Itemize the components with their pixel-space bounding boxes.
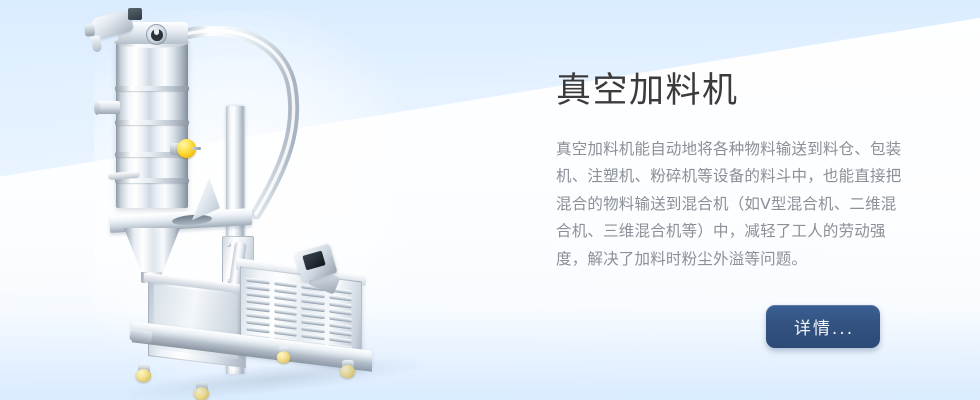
caster-wheel [340, 360, 357, 377]
louver-slot [329, 337, 353, 344]
valve-stem [192, 147, 201, 150]
louver-slot [246, 284, 270, 291]
louver-slot [274, 302, 298, 309]
louver-slot [246, 326, 270, 333]
page-title: 真空加料机 [556, 69, 739, 113]
louver-slot [329, 323, 353, 330]
louver-slot [329, 309, 353, 316]
caster-wheel-disc [340, 365, 355, 378]
louver-slot [274, 316, 298, 323]
product-image [84, 0, 504, 400]
brand-badge-glyph [151, 29, 163, 41]
louver-slot [329, 316, 353, 323]
hopper-band [115, 86, 189, 91]
louver-slot [246, 312, 270, 319]
louver-slot [246, 291, 270, 298]
louver-slot [301, 312, 325, 319]
louver-slot [246, 319, 270, 326]
louver-slot [246, 298, 270, 305]
louver-slot [301, 305, 325, 312]
louver-slot [274, 330, 298, 337]
product-banner: 真空加料机 真空加料机能自动地将各种物料输送到料仓、包装机、注塑机、粉碎机等设备… [0, 0, 980, 400]
discharge-cone [124, 228, 180, 274]
louver-slot [274, 323, 298, 330]
caster-wheel-disc [194, 387, 209, 400]
cap-junction-box [128, 8, 142, 20]
louver-slot [301, 298, 325, 305]
louver-slot [329, 330, 353, 337]
louver-slot [274, 309, 298, 316]
louver-slot [301, 326, 325, 333]
product-description: 真空加料机能自动地将各种物料输送到料仓、包装机、注塑机、粉碎机等设备的料斗中，也… [556, 136, 908, 274]
caster-wheel [136, 364, 153, 381]
louver-slot [329, 295, 353, 302]
details-button[interactable]: 详情... [766, 305, 880, 348]
louver-slot [246, 305, 270, 312]
louver-slot [301, 333, 325, 340]
caster-wheel-disc [277, 351, 291, 363]
banner-text-panel: 真空加料机 真空加料机能自动地将各种物料输送到料仓、包装机、注塑机、粉碎机等设备… [556, 0, 956, 400]
stainless-hopper-body [116, 42, 188, 208]
brand-badge-icon [146, 24, 167, 45]
machine-cart-base [114, 270, 444, 396]
caster-wheel-disc [136, 369, 151, 382]
hopper-band [115, 120, 189, 125]
side-inlet-nozzle [98, 101, 120, 114]
louver-slot [301, 319, 325, 326]
caster-wheel [277, 347, 293, 363]
louver-slot [301, 291, 325, 298]
caster-wheel [194, 382, 211, 399]
louver-slot [274, 288, 298, 295]
louver-slot [274, 295, 298, 302]
louver-slot [329, 302, 353, 309]
yellow-butterfly-valve [170, 139, 196, 159]
